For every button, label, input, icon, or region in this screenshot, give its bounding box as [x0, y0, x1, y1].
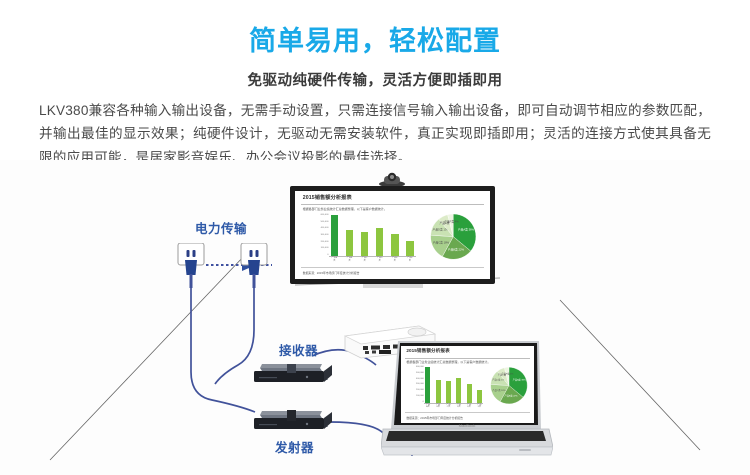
slide-title: 2015销售额分析报表 — [303, 194, 352, 201]
x-tick: 产品B类 — [346, 257, 353, 261]
label-receiver: 接收器 — [279, 340, 318, 359]
bar — [376, 228, 383, 256]
pie-slice-label: 产品A类 36% — [458, 228, 475, 232]
x-tick: 产品E类 — [467, 404, 472, 408]
y-tick: 100,000 — [321, 247, 329, 249]
x-tick: 产品B类 — [436, 404, 441, 408]
y-tick: 200,000 — [321, 241, 329, 243]
bar-chart-y-axis: 600,000 500,000 400,000 300,000 200,000 … — [409, 366, 424, 403]
x-tick: 产品A类 — [425, 404, 430, 408]
x-tick: 产品F类 — [477, 404, 482, 408]
bar — [331, 215, 338, 256]
bar — [361, 232, 368, 257]
transmitter-box — [254, 405, 332, 432]
bar-chart-bars — [331, 215, 414, 256]
slide-subtitle: 根据各部门业务业绩统计汇总数据整理，以下是客户数据统计。 — [303, 207, 387, 211]
bar-chart-x-labels: 产品A类 产品B类 产品C类 产品D类 产品E类 产品F类 — [331, 257, 414, 261]
label-transmitter: 发射器 — [275, 437, 314, 456]
slide-title: 2015销售额分析报表 — [406, 348, 449, 354]
slide-divider — [301, 204, 484, 205]
pie-slice-label: 产品C类 18% — [433, 241, 450, 245]
receiver-box — [254, 358, 332, 385]
bar-chart: 600,000 500,000 400,000 300,000 200,000 … — [307, 214, 416, 263]
x-tick: 产品D类 — [376, 257, 383, 261]
webcam-icon — [376, 171, 408, 187]
slide-tv: 2015销售额分析报表 根据各部门业务业绩统计汇总数据整理，以下是客户数据统计。… — [295, 191, 490, 279]
label-power-transmission: 电力传输 — [195, 218, 247, 237]
bar-chart-y-axis: 600,000 500,000 400,000 300,000 200,000 … — [307, 214, 329, 256]
page-title: 简单易用，轻松配置 — [0, 0, 750, 59]
y-tick: 300,000 — [321, 234, 329, 236]
bar — [406, 241, 413, 256]
y-tick: 300,000 — [416, 383, 424, 385]
y-tick: 200,000 — [416, 389, 424, 391]
bar — [477, 390, 482, 403]
x-tick: 产品A类 — [331, 257, 338, 261]
bar-chart-bars — [425, 367, 482, 403]
x-tick: 产品E类 — [391, 257, 398, 261]
laptop-screen: 2015销售额分析报表 根据各部门业务业绩统计汇总数据整理，以下是客户数据统计。… — [401, 346, 534, 423]
y-tick: 100,000 — [416, 395, 424, 397]
bar — [425, 367, 430, 403]
bar — [446, 381, 451, 403]
bar — [456, 378, 461, 403]
bar-chart: 600,000 500,000 400,000 300,000 200,000 … — [409, 366, 483, 409]
tv-display: 2015销售额分析报表 根据各部门业务业绩统计汇总数据整理，以下是客户数据统计。… — [290, 186, 495, 284]
laptop: MacBook 2015销售额分析报表 根据各部门业务业绩统计汇总数据整理，以下… — [381, 337, 553, 465]
wall-outlet-source-icon — [177, 243, 205, 288]
svg-text:MacBook: MacBook — [459, 423, 476, 428]
page-root: 简单易用，轻松配置 免驱动纯硬件传输，灵活方便即插即用 LKV380兼容各种输入… — [0, 0, 750, 475]
bar — [346, 230, 353, 256]
slide-footer-divider — [301, 267, 484, 268]
y-tick: 400,000 — [321, 227, 329, 229]
slide-footnote: 数据来源：2015年市场部门年度统计分析报告 — [303, 271, 360, 275]
slide-footnote: 数据来源：2015年市场部门年度统计分析报告 — [406, 416, 463, 420]
y-tick: 500,000 — [321, 221, 329, 223]
slide-subtitle: 根据各部门业务业绩统计汇总数据整理，以下是客户数据统计。 — [406, 360, 490, 364]
pie-slice-label: 产品F类 4% — [444, 220, 459, 224]
y-tick: 400,000 — [416, 378, 424, 380]
x-tick: 产品D类 — [456, 404, 461, 408]
slide-divider — [405, 358, 530, 359]
tv-stand — [363, 284, 423, 288]
pie-chart: 产品A类 36%产品B类 22%产品C类 18%产品D类 13%产品E类 7%产… — [424, 212, 483, 261]
page-subtitle: 免驱动纯硬件传输，灵活方便即插即用 — [0, 59, 750, 90]
x-tick: 产品C类 — [361, 257, 368, 261]
bar-chart-x-labels: 产品A类 产品B类 产品C类 产品D类 产品E类 产品F类 — [425, 404, 482, 408]
slide-footer-divider — [405, 412, 530, 413]
pie-slice-label: 产品B类 22% — [448, 248, 465, 252]
slide-laptop: 2015销售额分析报表 根据各部门业务业绩统计汇总数据整理，以下是客户数据统计。… — [401, 346, 534, 423]
pie-chart: 产品A类 36%产品B类 22%产品C类 18%产品D类 13%产品E类 7%产… — [489, 364, 529, 407]
bar — [467, 384, 472, 403]
y-tick: 500,000 — [416, 372, 424, 374]
bar — [436, 380, 441, 403]
x-tick: 产品F类 — [406, 257, 413, 261]
y-tick: 600,000 — [416, 366, 424, 368]
bar — [391, 234, 398, 256]
tv-screen: 2015销售额分析报表 根据各部门业务业绩统计汇总数据整理，以下是客户数据统计。… — [295, 191, 490, 279]
y-tick: 600,000 — [321, 214, 329, 216]
wall-outlet-destination-icon — [240, 243, 268, 288]
bar-chart-baseline — [329, 256, 416, 257]
x-tick: 产品C类 — [446, 404, 451, 408]
